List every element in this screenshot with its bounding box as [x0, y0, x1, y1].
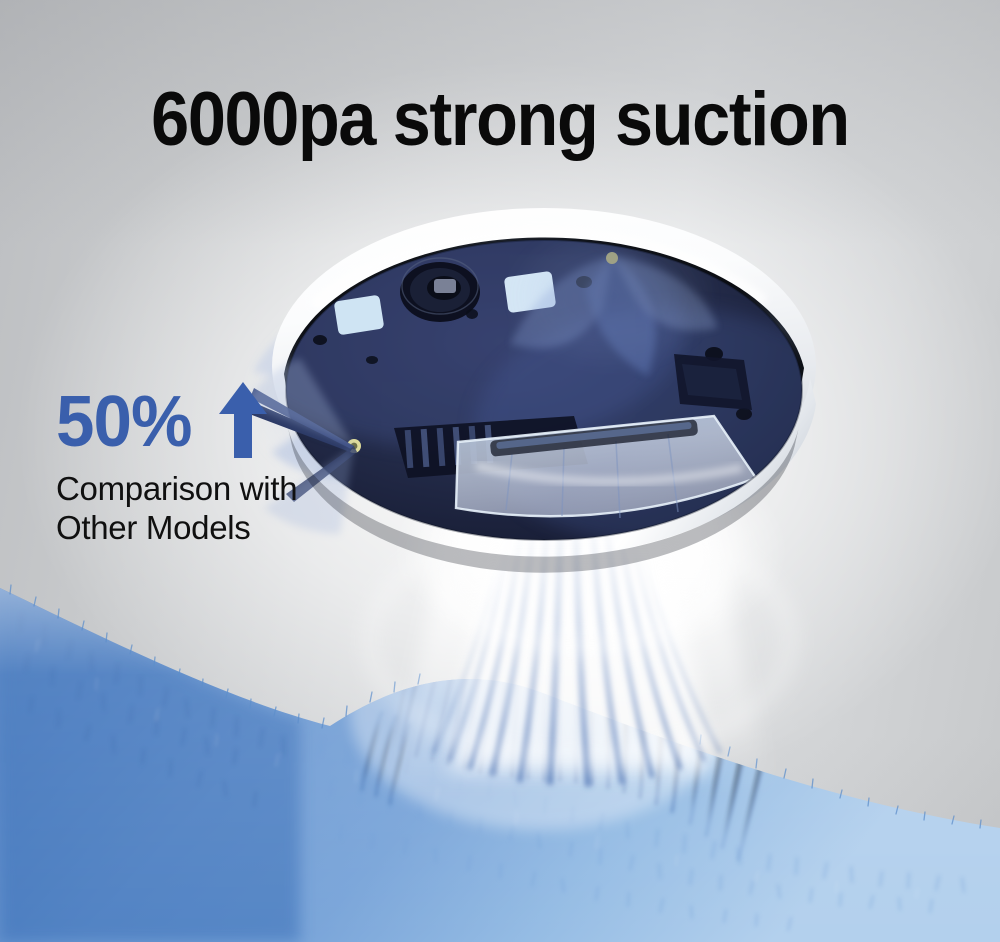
drive-wheel-housing — [674, 354, 752, 410]
page-title: 6000pa strong suction — [50, 82, 950, 158]
carpet-pile — [0, 560, 1000, 942]
banner-stage: 6000pa strong suction — [0, 0, 1000, 942]
comparison-badge: 50% Comparison with Other Models — [56, 384, 297, 548]
percent-value: 50% — [56, 389, 191, 455]
arrow-up-icon — [217, 380, 269, 460]
badge-subtitle: Comparison with Other Models — [56, 470, 297, 548]
blue-carpet — [0, 560, 1000, 942]
robot-vacuum-illustration — [244, 178, 840, 608]
badge-headline-row: 50% — [56, 384, 297, 460]
